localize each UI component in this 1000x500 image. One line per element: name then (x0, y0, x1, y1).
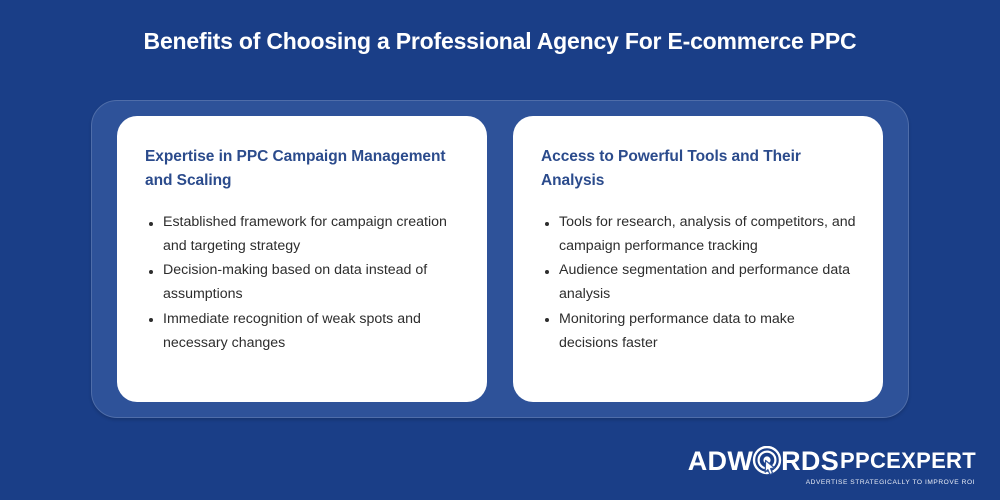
list-item: Monitoring performance data to make deci… (559, 308, 857, 355)
list-item-label: Tools for research, analysis of competit… (559, 214, 856, 254)
slide-background: Benefits of Choosing a Professional Agen… (0, 0, 1000, 500)
list-item: Immediate recognition of weak spots and … (163, 308, 461, 355)
list-item: Decision-making based on data instead of… (163, 259, 461, 306)
bullet-dot-icon (149, 318, 153, 322)
list-item-label: Decision-making based on data instead of… (163, 262, 427, 302)
bullet-dot-icon (545, 270, 549, 274)
bullet-dot-icon (545, 318, 549, 322)
list-item-label: Monitoring performance data to make deci… (559, 311, 795, 351)
benefit-card-expertise: Expertise in PPC Campaign Management and… (117, 116, 487, 402)
card-heading-expertise: Expertise in PPC Campaign Management and… (145, 145, 461, 193)
bullet-dot-icon (149, 222, 153, 226)
benefit-list-expertise: Established framework for campaign creat… (145, 211, 461, 355)
cards-container: Expertise in PPC Campaign Management and… (91, 100, 909, 418)
list-item: Audience segmentation and performance da… (559, 259, 857, 306)
logo-wordmark: ADW RDS PPCEXPERT (688, 446, 976, 476)
list-item-label: Audience segmentation and performance da… (559, 262, 850, 302)
benefit-list-tools: Tools for research, analysis of competit… (541, 211, 857, 355)
logo-text-adw: ADW (688, 448, 753, 475)
brand-logo: ADW RDS PPCEXPERT ADVERTISE STRATEGICALL… (688, 446, 976, 486)
list-item-label: Established framework for campaign creat… (163, 214, 447, 254)
target-cursor-icon (752, 446, 782, 476)
bullet-dot-icon (545, 222, 549, 226)
cards-row: Expertise in PPC Campaign Management and… (91, 100, 909, 418)
list-item-label: Immediate recognition of weak spots and … (163, 311, 421, 351)
logo-tagline: ADVERTISE STRATEGICALLY TO IMPROVE ROI (806, 479, 975, 486)
page-title: Benefits of Choosing a Professional Agen… (0, 28, 1000, 55)
list-item: Established framework for campaign creat… (163, 211, 461, 258)
benefit-card-tools: Access to Powerful Tools and Their Analy… (513, 116, 883, 402)
logo-text-ppcexpert: PPCEXPERT (839, 450, 976, 472)
logo-text-rds: RDS (781, 448, 839, 475)
list-item: Tools for research, analysis of competit… (559, 211, 857, 258)
bullet-dot-icon (149, 270, 153, 274)
card-heading-tools: Access to Powerful Tools and Their Analy… (541, 145, 857, 193)
